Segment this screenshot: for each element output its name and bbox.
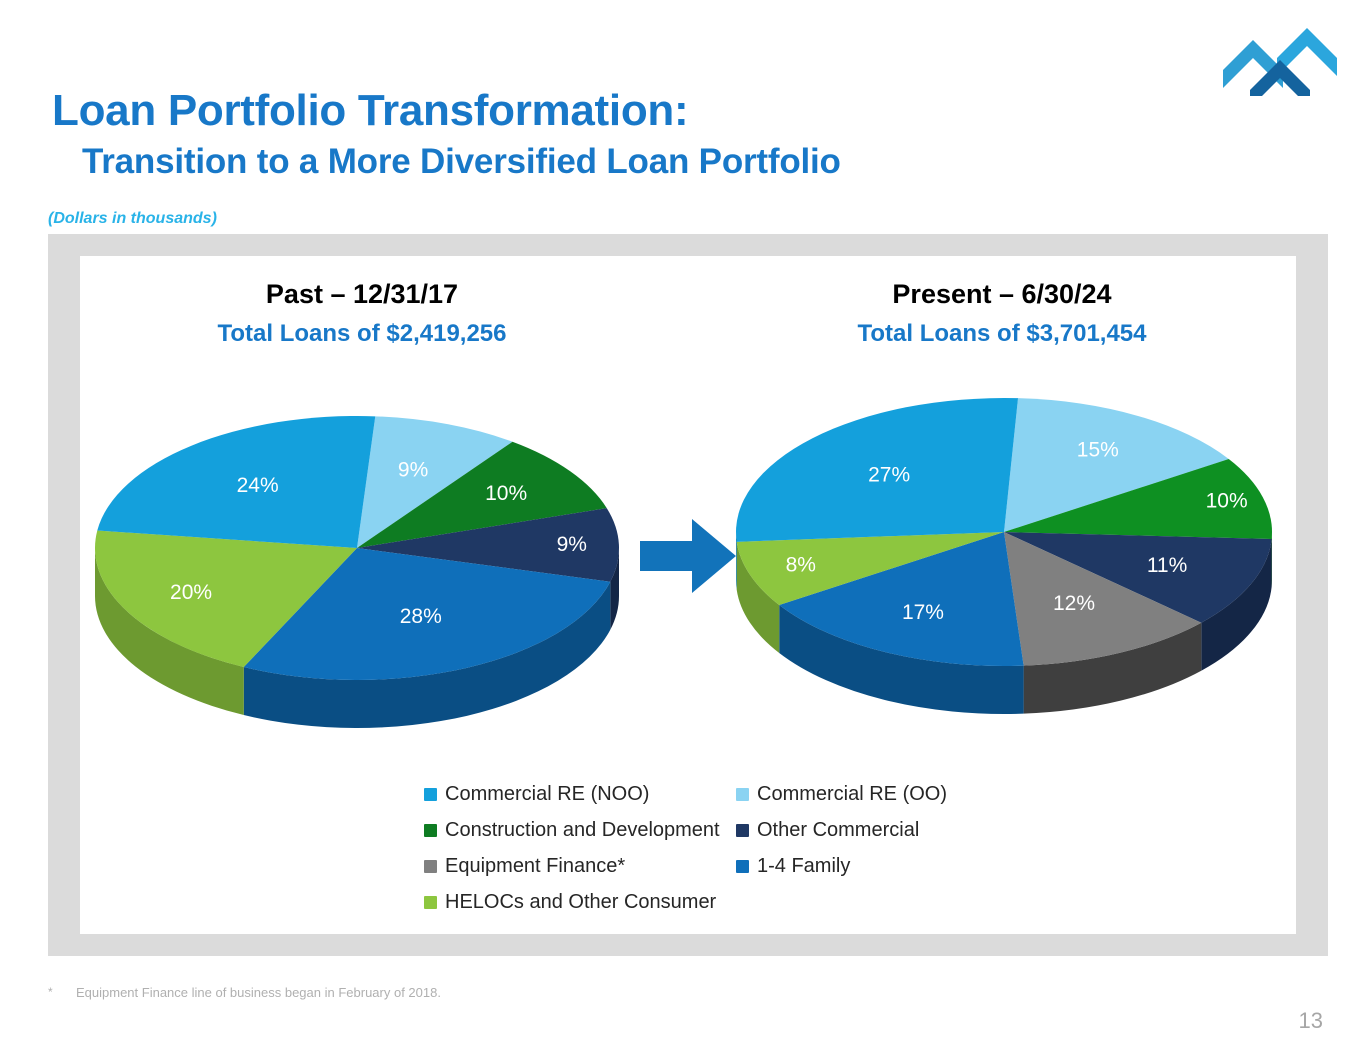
legend-swatch-icon xyxy=(736,788,749,801)
pie-header-present: Present – 6/30/24 Total Loans of $3,701,… xyxy=(742,278,1262,349)
footnote-text: Equipment Finance line of business began… xyxy=(76,985,441,1000)
pie-slice-label: 15% xyxy=(1077,438,1119,461)
legend-item[interactable]: Commercial RE (NOO) xyxy=(424,783,736,806)
pie-title-past: Past – 12/31/17 xyxy=(102,278,622,312)
legend-swatch-icon xyxy=(736,824,749,837)
pie-slice-label: 9% xyxy=(557,533,587,556)
legend-label: Construction and Development xyxy=(445,819,720,842)
legend-swatch-icon xyxy=(424,896,437,909)
pie-slice-label: 8% xyxy=(786,554,816,577)
pie-slice-label: 28% xyxy=(400,605,442,628)
page-title: Loan Portfolio Transformation: xyxy=(52,88,688,134)
pie-slice-label: 9% xyxy=(398,459,428,482)
page-number: 13 xyxy=(1299,1008,1323,1034)
slide-root: Loan Portfolio Transformation: Transitio… xyxy=(0,0,1365,1055)
legend-label: Commercial RE (NOO) xyxy=(445,783,649,806)
legend-item[interactable]: Construction and Development xyxy=(424,819,736,842)
legend-label: 1-4 Family xyxy=(757,855,850,878)
legend-label: Equipment Finance* xyxy=(445,855,625,878)
company-chevron-logo xyxy=(1221,14,1339,96)
units-note: (Dollars in thousands) xyxy=(48,210,217,228)
legend-label: Other Commercial xyxy=(757,819,919,842)
pie-chart-present: 15%10%11%12%17%8%27% xyxy=(732,388,1292,728)
page-subtitle: Transition to a More Diversified Loan Po… xyxy=(82,144,841,181)
legend-row: Construction and DevelopmentOther Commer… xyxy=(424,812,964,848)
legend-item[interactable]: HELOCs and Other Consumer xyxy=(424,891,736,914)
transition-arrow-icon xyxy=(640,519,736,593)
legend-swatch-icon xyxy=(424,824,437,837)
legend-swatch-icon xyxy=(424,860,437,873)
pie-subtitle-present: Total Loans of $3,701,454 xyxy=(742,318,1262,349)
pie-slice-label: 24% xyxy=(237,474,279,497)
legend-item[interactable]: Other Commercial xyxy=(736,819,964,842)
legend-label: HELOCs and Other Consumer xyxy=(445,891,716,914)
pie-chart-past: 9%10%9%28%20%24% xyxy=(92,388,632,728)
pie-header-past: Past – 12/31/17 Total Loans of $2,419,25… xyxy=(102,278,622,349)
pie-slice-label: 17% xyxy=(902,601,944,624)
legend-swatch-icon xyxy=(736,860,749,873)
pie-title-present: Present – 6/30/24 xyxy=(742,278,1262,312)
pie-slice-label: 11% xyxy=(1147,554,1187,577)
legend-item[interactable]: Commercial RE (OO) xyxy=(736,783,964,806)
footnote-marker: * xyxy=(48,985,53,999)
chart-legend: Commercial RE (NOO)Commercial RE (OO)Con… xyxy=(424,776,964,920)
pie-slice-label: 10% xyxy=(1206,490,1248,513)
pie-subtitle-past: Total Loans of $2,419,256 xyxy=(102,318,622,349)
legend-row: Commercial RE (NOO)Commercial RE (OO) xyxy=(424,776,964,812)
legend-item[interactable]: Equipment Finance* xyxy=(424,855,736,878)
legend-label: Commercial RE (OO) xyxy=(757,783,947,806)
legend-row: Equipment Finance*1-4 Family xyxy=(424,848,964,884)
pie-slice-label: 20% xyxy=(170,581,212,604)
pie-slice-label: 10% xyxy=(485,482,527,505)
pie-slice-label: 27% xyxy=(868,463,910,486)
legend-swatch-icon xyxy=(424,788,437,801)
legend-item[interactable]: 1-4 Family xyxy=(736,855,964,878)
legend-row: HELOCs and Other Consumer xyxy=(424,884,964,920)
pie-slice-label: 12% xyxy=(1053,592,1095,615)
